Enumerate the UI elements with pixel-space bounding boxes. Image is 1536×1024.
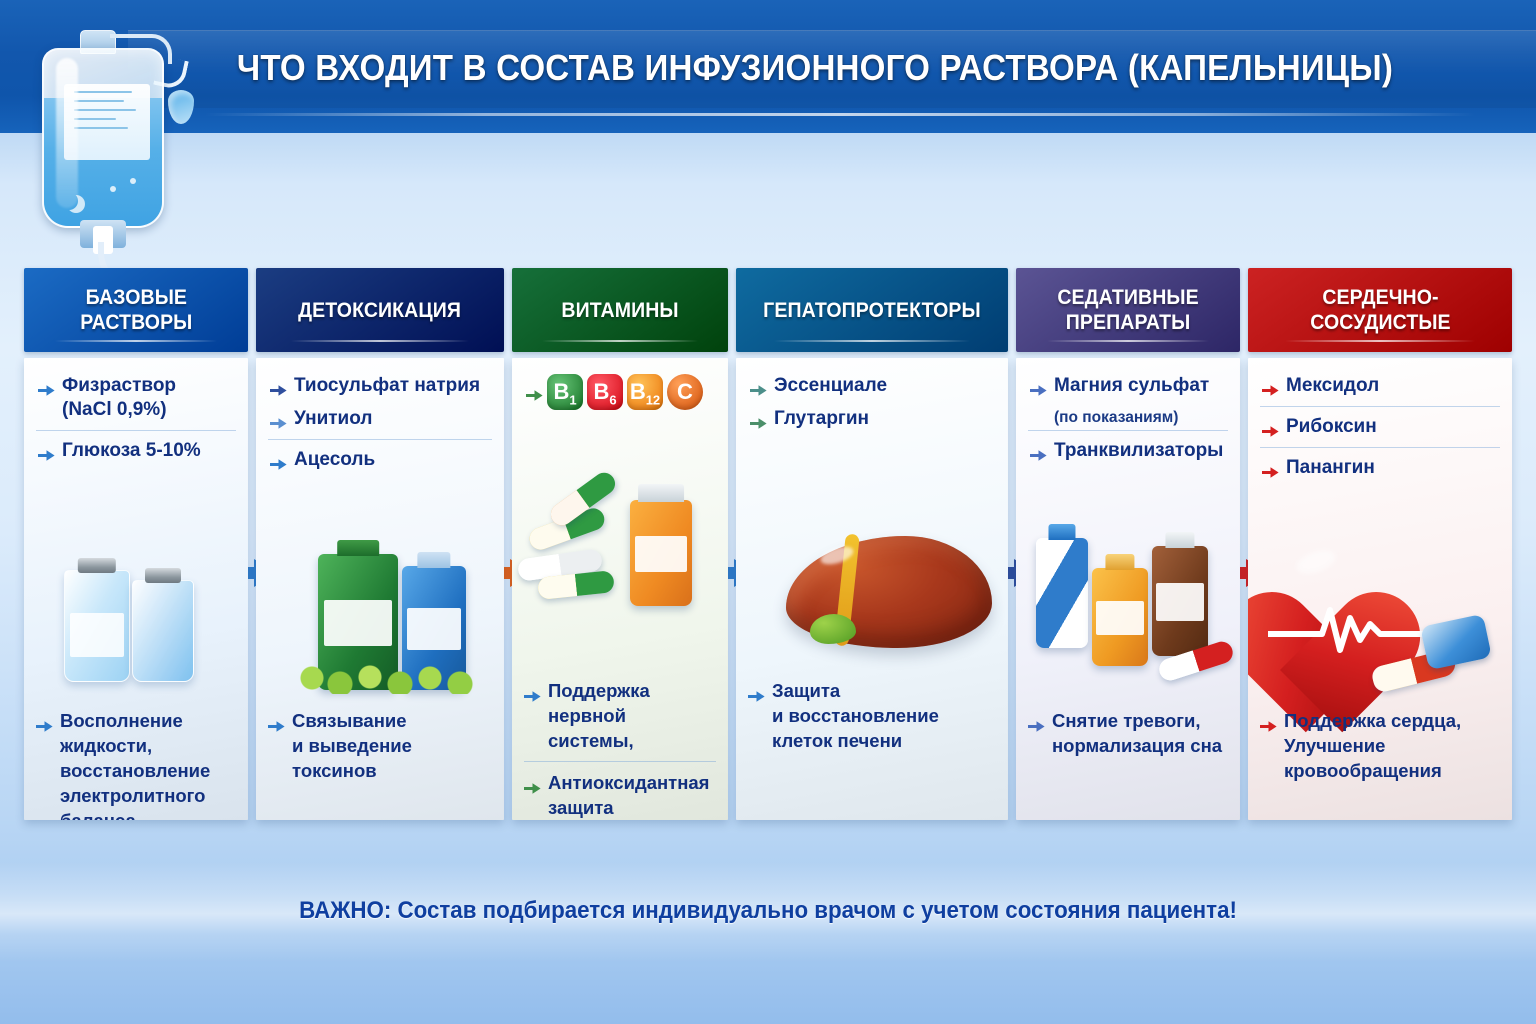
vitamin-badge-row: B1B6B12C [524,370,716,412]
column-hepatoprotectors: ГЕПАТОПРОТЕКТОРЫЭссенциалеГлутаргинЗащит… [736,268,1008,820]
pill-bottle-label [635,536,687,572]
list-item[interactable]: Глутаргин [748,403,996,436]
ecg-line-icon [1268,594,1484,654]
capsule-yellow-red [1370,648,1458,694]
liver-shape [786,536,992,648]
list-arrow-icon [270,454,287,467]
vitamin-badge-label: B6 [593,374,616,418]
list-item-label: Магния сульфат [1054,374,1209,398]
item-list-base-solutions: Физраствор (NaCl 0,9%)Глюкоза 5-10% [24,370,248,468]
bottle-label [324,600,391,646]
benefit-label: Защита и восстановление клеток печени [772,678,939,753]
list-item[interactable]: Ацесоль [268,439,492,477]
benefit-label: Связывание и выведение токсинов [292,708,412,783]
list-item-label: Транквилизаторы [1054,439,1223,463]
benefit-arrow-icon [1028,714,1045,727]
bottle-label [407,608,461,650]
header-underline-decoration [205,113,1475,116]
list-item[interactable]: Эссенциале [748,370,996,403]
capsule-white [517,548,603,581]
list-item-label: Глюкоза 5-10% [62,439,201,463]
liver-highlight [819,543,856,568]
bottle-amber [1092,568,1148,666]
benefit-label: Восполнение жидкости, восстановление эле… [60,708,210,820]
benefit-list-vitamins: Поддержка нервной системы,Антиоксидантна… [512,678,728,820]
list-item-label: Унитиол [294,407,372,431]
column-body-base-solutions: Физраствор (NaCl 0,9%)Глюкоза 5-10%Воспо… [24,358,248,820]
green-bottle [318,554,398,690]
list-arrow-icon [38,445,55,458]
benefit-label: Снятие тревоги, нормализация сна [1052,708,1222,758]
column-header-base-solutions[interactable]: БАЗОВЫЕ РАСТВОРЫ [24,268,248,352]
list-arrow-icon [270,413,287,426]
column-title-base-solutions: БАЗОВЫЕ РАСТВОРЫ [80,285,192,335]
item-list-vitamins: B1B6B12C [512,370,728,412]
column-cardiovascular: СЕРДЕЧНО- СОСУДИСТЫЕМексидолРибоксинПана… [1248,268,1512,820]
list-item-note: (по показаниям) [1028,403,1228,427]
list-item[interactable]: Рибоксин [1260,406,1500,444]
list-item-label: Эссенциале [774,374,887,398]
column-title-hepatoprotectors: ГЕПАТОПРОТЕКТОРЫ [763,298,981,323]
header-band: ЧТО ВХОДИТ В СОСТАВ ИНФУЗИОННОГО РАСТВОР… [0,0,1536,133]
benefit-item: Поддержка нервной системы, [524,678,716,757]
vial-cap [145,568,181,583]
benefit-list-detoxification: Связывание и выведение токсинов [256,708,504,787]
list-item-label: Физраствор (NaCl 0,9%) [62,374,176,422]
benefit-label: Антиоксидантная защита [548,770,709,820]
herb-granules [300,664,486,694]
water-drop-icon [168,90,194,124]
heart-highlight [1294,546,1338,578]
column-body-detoxification: Тиосульфат натрияУнитиолАцесольСвязывани… [256,358,504,820]
list-item[interactable]: Тиосульфат натрия [268,370,492,403]
benefit-arrow-icon [524,684,541,697]
list-item-label: Ацесоль [294,448,375,472]
list-item-label: Глутаргин [774,407,869,431]
bottle-cap [1048,524,1075,540]
benefit-list-hepatoprotectors: Защита и восстановление клеток печени [736,678,1008,757]
vitamin-badge-b6: B6 [587,374,623,410]
list-arrow-icon [38,380,55,393]
pill-bottle-cap [638,484,684,502]
blue-bottle [402,566,466,690]
column-header-detoxification[interactable]: ДЕТОКСИКАЦИЯ [256,268,504,352]
column-title-vitamins: ВИТАМИНЫ [561,298,678,323]
item-list-detoxification: Тиосульфат натрияУнитиолАцесоль [256,370,504,477]
list-arrow-icon [1262,421,1279,434]
column-body-vitamins: B1B6B12CПоддержка нервной системы,Антиок… [512,358,728,820]
benefit-list-base-solutions: Восполнение жидкости, восстановление эле… [24,708,248,820]
benefit-label: Поддержка нервной системы, [548,678,650,753]
bottle-cap [417,552,450,568]
column-body-sedatives: Магния сульфат(по показаниям)Транквилиза… [1016,358,1240,820]
column-body-hepatoprotectors: ЭссенциалеГлутаргинЗащита и восстановлен… [736,358,1008,820]
heart-shape [1280,534,1448,684]
column-header-hepatoprotectors[interactable]: ГЕПАТОПРОТЕКТОРЫ [736,268,1008,352]
list-arrow-icon [1262,462,1279,475]
list-item-label: Мексидол [1286,374,1379,398]
list-item[interactable]: Транквилизаторы [1028,430,1228,468]
list-arrow-icon [270,380,287,393]
iv-bag-body [42,48,164,228]
column-header-vitamins[interactable]: ВИТАМИНЫ [512,268,728,352]
list-item-label: Панангин [1286,456,1375,480]
category-columns: БАЗОВЫЕ РАСТВОРЫФизраствор (NaCl 0,9%)Гл… [0,268,1536,820]
vitamin-badge-label: B1 [553,374,576,418]
vial-cap [78,558,116,573]
bottle-label [1156,583,1203,620]
benefit-list-sedatives: Снятие тревоги, нормализация сна [1016,708,1240,762]
list-arrow-icon [1030,380,1047,393]
list-item[interactable]: Физраствор (NaCl 0,9%) [36,370,236,427]
column-detoxification: ДЕТОКСИКАЦИЯТиосульфат натрияУнитиолАцес… [256,268,504,820]
vitamin-badge-c: C [667,374,703,410]
bottle-label [1096,601,1143,634]
list-item[interactable]: Мексидол [1260,370,1500,403]
benefit-item: Поддержка сердца, Улучшение кровообращен… [1260,708,1500,787]
list-arrow-icon [1030,445,1047,458]
benefit-item: Защита и восстановление клеток печени [748,678,996,757]
vitamin-badge-b12: B12 [627,374,663,410]
page-title: ЧТО ВХОДИТ В СОСТАВ ИНФУЗИОННОГО РАСТВОР… [203,47,1427,89]
benefit-list-cardiovascular: Поддержка сердца, Улучшение кровообращен… [1248,708,1512,787]
benefit-item: Восполнение жидкости, восстановление эле… [36,708,236,820]
vitamin-badge-b1: B1 [547,374,583,410]
vial-label [70,613,124,657]
column-header-cardiovascular[interactable]: СЕРДЕЧНО- СОСУДИСТЫЕ [1248,268,1512,352]
bottle-cap [1105,554,1134,570]
list-item[interactable]: Глюкоза 5-10% [36,430,236,468]
iv-bag-bubble-small [110,186,116,192]
vial-left [64,570,130,682]
capsule-orange [547,468,620,529]
vial-right [132,580,194,682]
item-list-cardiovascular: МексидолРибоксинПанангин [1248,370,1512,485]
column-base-solutions: БАЗОВЫЕ РАСТВОРЫФизраствор (NaCl 0,9%)Гл… [24,268,248,820]
list-item[interactable]: Унитиол [268,403,492,436]
list-arrow-icon [750,380,767,393]
capsule-green [527,505,608,552]
tablet-blue [1420,614,1492,670]
list-item-label: Рибоксин [1286,415,1377,439]
list-item[interactable]: Панангин [1260,447,1500,485]
column-title-detoxification: ДЕТОКСИКАЦИЯ [299,298,462,323]
pill-bottle [630,500,692,606]
bottle-cap [337,540,379,556]
benefit-item: Антиоксидантная защита [524,761,716,820]
item-list-hepatoprotectors: ЭссенциалеГлутаргин [736,370,1008,436]
liver-bile-duct [834,534,860,647]
list-item[interactable]: Магния сульфат [1028,370,1228,403]
benefit-arrow-icon [1260,714,1277,727]
benefit-item: Снятие тревоги, нормализация сна [1028,708,1228,762]
column-vitamins: ВИТАМИНЫB1B6B12CПоддержка нервной систем… [512,268,728,820]
benefit-arrow-icon [36,714,53,727]
capsule-yellow [537,570,615,600]
item-list-sedatives: Магния сульфат(по показаниям)Транквилиза… [1016,370,1240,468]
vitamin-badge-label: B12 [630,374,660,418]
list-arrow-icon [1262,380,1279,393]
benefit-arrow-icon [524,776,541,789]
important-note: ВАЖНО: Состав подбирается индивидуально … [54,897,1482,925]
capsule-red-white [1156,639,1235,683]
column-title-sedatives: СЕДАТИВНЫЕ ПРЕПАРАТЫ [1057,285,1198,335]
gallbladder [810,614,856,644]
column-title-cardiovascular: СЕРДЕЧНО- СОСУДИСТЫЕ [1310,285,1450,335]
benefit-arrow-icon [748,684,765,697]
list-arrow-icon [526,389,543,402]
benefit-item: Связывание и выведение токсинов [268,708,492,787]
benefit-label: Поддержка сердца, Улучшение кровообращен… [1284,708,1461,783]
benefit-arrow-icon [268,714,285,727]
column-header-sedatives[interactable]: СЕДАТИВНЫЕ ПРЕПАРАТЫ [1016,268,1240,352]
list-arrow-icon [750,413,767,426]
iv-bag-bubble-small [130,178,136,184]
iv-drip-bag-icon [18,14,228,279]
bottle-brown [1152,546,1208,656]
iv-bag-highlight [56,58,78,208]
column-sedatives: СЕДАТИВНЫЕ ПРЕПАРАТЫМагния сульфат(по по… [1016,268,1240,820]
bottle-cap [1165,532,1194,548]
vitamin-badge-label: C [677,374,693,410]
list-item-label: Тиосульфат натрия [294,374,480,398]
bottle-blue-white [1036,538,1088,648]
column-body-cardiovascular: МексидолРибоксинПанангинПоддержка сердца… [1248,358,1512,820]
